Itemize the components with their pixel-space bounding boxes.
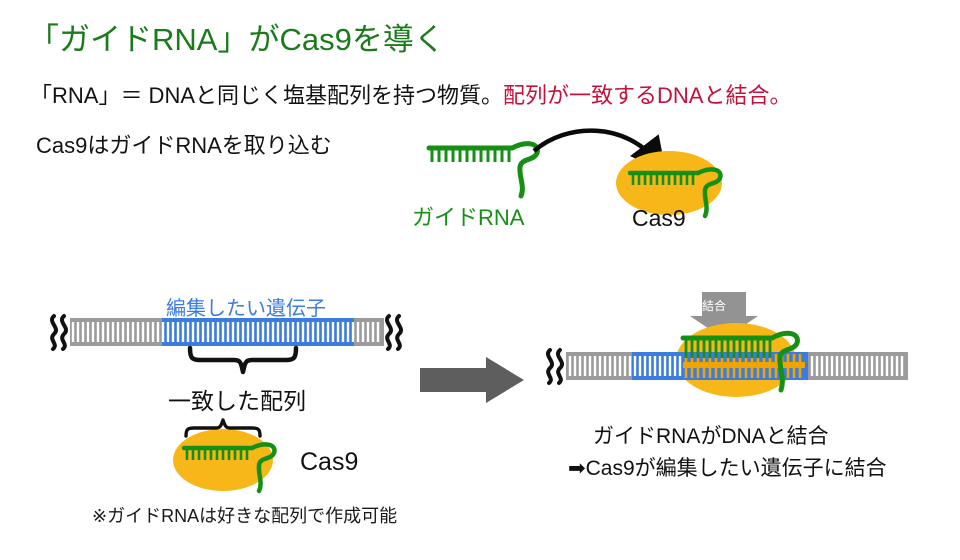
cas9-label: Cas9 (300, 448, 358, 477)
guide-rna-label: ガイドRNA (412, 200, 524, 232)
bound-caption-line1: ガイドRNAがDNAと結合 (593, 420, 829, 450)
dna-break-left-icon (548, 350, 562, 383)
lead-sentence: 「RNA」＝ DNAと同じく塩基配列を持つ物質。配列が一致するDNAと結合。 (30, 78, 791, 110)
matched-sequence-label: 一致した配列 (168, 382, 306, 416)
dna-break-right-icon (387, 316, 401, 349)
bind-arrow-label: 結合 (702, 297, 726, 314)
cas9-label: Cas9 (632, 205, 686, 232)
page-title: 「ガイドRNA」がCas9を導く (28, 14, 445, 59)
bound-caption-line2: ➡Cas9が編集したい遺伝子に結合 (568, 452, 887, 482)
match-brace (186, 346, 306, 380)
lead-highlight-text: 配列が一致するDNAと結合。 (503, 83, 791, 108)
sub-sentence: Cas9はガイドRNAを取り込む (36, 128, 332, 160)
rna-comb-icon (429, 144, 537, 196)
dna-break-left-icon (52, 316, 66, 349)
footnote-text: ※ガイドRNAは好きな配列で作成可能 (92, 502, 397, 528)
cas9-with-rna-braced-graphic (168, 418, 298, 498)
process-arrow-right (418, 355, 528, 405)
bound-strand-fill (683, 362, 805, 368)
bound-complex-graphic (540, 318, 940, 396)
lead-plain-text: 「RNA」＝ DNAと同じく塩基配列を持つ物質。 (30, 83, 503, 108)
